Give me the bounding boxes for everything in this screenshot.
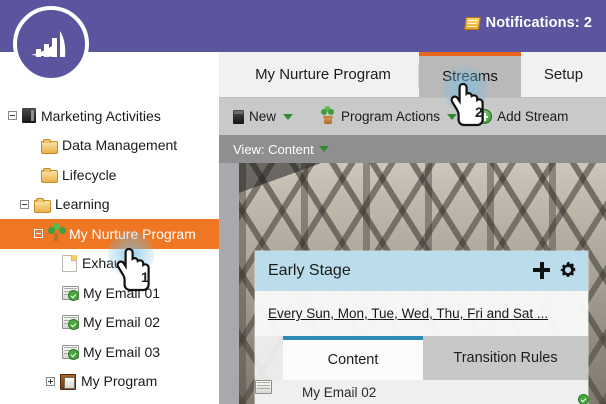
step-1-cursor: 1 — [116, 245, 178, 303]
plus-icon[interactable] — [533, 262, 550, 279]
list-item-label: My Email 02 — [302, 385, 376, 400]
stream-card-actions — [533, 261, 577, 279]
expander-minus-icon[interactable] — [20, 200, 29, 209]
tree-item-label: My Email 03 — [83, 344, 160, 360]
card-tab-transition-rules[interactable]: Transition Rules — [423, 336, 588, 380]
tab-setup[interactable]: Setup — [521, 52, 606, 97]
tree-item-label: My Program — [81, 373, 157, 389]
stream-card-header: Early Stage — [255, 251, 588, 291]
card-tab-label: Content — [328, 352, 379, 368]
schedule-link[interactable]: Every Sun, Mon, Tue, Wed, Thu, Fri and S… — [268, 306, 548, 321]
tree-item-marketing-activities[interactable]: Marketing Activities — [0, 101, 219, 131]
gear-icon[interactable] — [559, 261, 577, 279]
step-2-cursor: 2 — [450, 80, 512, 138]
tree-item-label: Lifecycle — [62, 167, 116, 183]
tree-item-data-management[interactable]: Data Management — [0, 131, 219, 161]
new-label: New — [249, 109, 276, 124]
program-actions-button[interactable]: Program Actions — [320, 109, 457, 124]
tab-strip: My Nurture Program Streams Setup — [219, 52, 606, 97]
notifications-label: Notifications: 2 — [486, 15, 592, 31]
tree-item-lifecycle[interactable]: Lifecycle — [0, 160, 219, 190]
folder-icon — [41, 139, 57, 152]
folder-icon — [34, 198, 50, 211]
tree-item-my-email-03[interactable]: My Email 03 — [0, 337, 219, 367]
chevron-down-icon[interactable] — [283, 114, 293, 120]
card-tab-content[interactable]: Content — [283, 336, 423, 380]
stream-card-early-stage: Early Stage Every Sun, Mon, Tue, Wed, Th… — [255, 251, 588, 404]
stream-schedule: Every Sun, Mon, Tue, Wed, Thu, Fri and S… — [255, 291, 588, 336]
tab-my-nurture-program[interactable]: My Nurture Program — [227, 52, 419, 97]
view-bar: View: Content — [219, 135, 606, 163]
tab-label: Setup — [544, 66, 583, 83]
tree-item-learning[interactable]: Learning — [0, 190, 219, 220]
email-approved-icon — [281, 385, 297, 399]
new-button[interactable]: New — [233, 109, 293, 124]
activities-icon — [22, 108, 36, 123]
tree-item-label: Marketing Activities — [41, 108, 161, 124]
toolbar: New Program Actions Add Stream — [219, 97, 606, 135]
tree-item-my-email-02[interactable]: My Email 02 — [0, 308, 219, 338]
nurture-program-icon — [48, 226, 64, 241]
tree-item-label: My Email 02 — [83, 314, 160, 330]
bar-chart-icon — [29, 27, 75, 67]
expander-minus-icon[interactable] — [34, 229, 43, 238]
view-label[interactable]: View: Content — [233, 142, 314, 157]
new-icon — [233, 110, 244, 124]
card-tab-label: Transition Rules — [453, 350, 557, 366]
list-item[interactable]: My Email 02 — [281, 385, 376, 400]
stream-canvas: Early Stage Every Sun, Mon, Tue, Wed, Th… — [219, 163, 606, 404]
chevron-down-icon[interactable] — [319, 146, 329, 152]
stream-card-tab-strip: Content Transition Rules — [255, 336, 588, 380]
tab-label: My Nurture Program — [255, 66, 391, 83]
email-approved-icon — [62, 286, 78, 300]
step-number: 1 — [141, 269, 149, 285]
stream-card-title: Early Stage — [268, 262, 351, 280]
program-icon — [60, 374, 76, 389]
tree-item-my-email-01[interactable]: My Email 01 — [0, 278, 219, 308]
notes-icon — [465, 17, 480, 30]
tree-item-label: Learning — [55, 196, 110, 212]
tree-item-label: Data Management — [62, 137, 177, 153]
expander-minus-icon[interactable] — [8, 111, 17, 120]
top-header-bar: Notifications: 2 — [0, 0, 606, 52]
sidebar-tree-panel: Marketing Activities Data Management Lif… — [0, 52, 219, 404]
expander-plus-icon[interactable] — [46, 377, 55, 386]
page-icon — [62, 255, 77, 272]
tree-item-my-program[interactable]: My Program — [0, 367, 219, 397]
step-number: 2 — [475, 104, 483, 120]
stream-card-content-list: My Email 02 — [255, 380, 588, 404]
main-panel: My Nurture Program Streams Setup New Pro… — [219, 52, 606, 404]
program-actions-label: Program Actions — [341, 109, 440, 124]
app-window: Notifications: 2 Marketing Activities Da… — [0, 0, 606, 404]
notifications-indicator[interactable]: Notifications: 2 — [465, 15, 592, 31]
program-actions-plant-icon — [320, 109, 336, 124]
bar-chart-circle-logo[interactable] — [13, 6, 89, 82]
email-approved-icon — [62, 315, 78, 329]
email-approved-icon — [62, 345, 78, 359]
folder-icon — [41, 168, 57, 181]
